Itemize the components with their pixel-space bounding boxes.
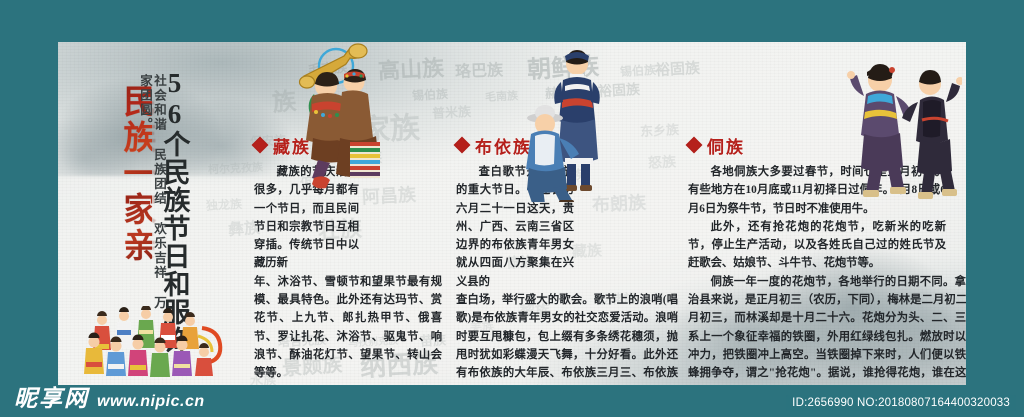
column-heading-buyizu: 布依族 — [456, 134, 678, 156]
brand-name-cn: 昵享网 — [14, 379, 89, 413]
paragraph-zangzu-narrow: 藏族的节庆活动很多，几乎每月都有一个节日，而且民间节日和宗教节日互相穿插。传统节… — [254, 163, 359, 273]
title-block: 民族一家亲 56个民族节日和服饰 社会和谐 民族团结 欢乐吉祥 万家团圆。 — [76, 48, 236, 386]
article-column-zangzu: 藏族 藏族的节庆活动很多，几乎每月都有一个节日，而且民间节日和宗教节日互相穿插。… — [254, 134, 444, 383]
diamond-bullet-icon — [454, 137, 471, 154]
watermark-ethnic-name: 裕固族 — [598, 79, 641, 101]
column-heading-zangzu: 藏族 — [254, 134, 444, 156]
page-subtitle: 社会和谐 民族团结 欢乐吉祥 万家团圆。 — [138, 74, 166, 314]
watermark-ethnic-name: 锡伯族 — [620, 61, 657, 80]
watermark-ethnic-name: 赫哲族 — [545, 81, 585, 102]
brand-url[interactable]: www.nipic.cn — [97, 393, 205, 411]
poster-artboard: 毛南族高山族珞巴族朝鲜族锡伯族毛南族赫哲族裕固族族门巴族土家族撒拉族阿昌族佤族壮… — [58, 42, 966, 386]
paragraph-dongzu-1: 各地侗族大多要过春节，时间也是正月初一。有些地方在10月底或11月初择日过侗年。… — [688, 163, 946, 218]
column-heading-dongzu: 侗族 — [688, 134, 958, 156]
column-title-text: 布依族 — [475, 133, 532, 158]
footer-watermark-bar: 昵享网 www.nipic.cn ID:2656990 NO:201808071… — [0, 385, 1024, 417]
paragraph-dongzu-3: 侗族一年一度的花炮节，各地举行的日期不同。拿三江侗族自治县来说，是正月初三（农历… — [688, 273, 966, 386]
site-brand[interactable]: 昵享网 www.nipic.cn — [14, 379, 205, 413]
article-column-buyizu: 布依族 查白歌节是布依族的重大节日。每逢农历六月二十一日这天，贵州、广西、云南三… — [456, 134, 678, 386]
paragraph-buyizu-wide: 查白场，举行盛大的歌会。歌节上的浪哨(唱歌)是布依族青年男女的社交恋爱活动。浪哨… — [456, 291, 678, 386]
watermark-ethnic-name: 朝鲜族 — [526, 46, 600, 85]
watermark-ethnic-name: 高山族 — [377, 50, 445, 85]
paragraph-zangzu-wide: 年、沐浴节、雪顿节和望果节最有规模、最具特色。此外还有达玛节、赏花节、上九节、郎… — [254, 273, 442, 383]
diamond-bullet-icon — [686, 137, 703, 154]
crowd-svg — [84, 306, 234, 380]
watermark-ethnic-name: 毛南族 — [307, 57, 347, 79]
watermark-ethnic-name: 裕固族 — [654, 57, 700, 80]
asset-id-badge: ID:2656990 NO:20180807164400320033 — [786, 395, 1016, 411]
poster-canvas: 毛南族高山族珞巴族朝鲜族锡伯族毛南族赫哲族裕固族族门巴族土家族撒拉族阿昌族佤族壮… — [0, 0, 1024, 417]
paragraph-buyizu-narrow: 查白歌节是布依族的重大节日。每逢农历六月二十一日这天，贵州、广西、云南三省区边界… — [456, 163, 574, 291]
paragraph-dongzu-2: 此外，还有抢花炮的花炮节，吃新米的吃新节，停止生产活动，以及各姓氏自己过的姓氏节… — [688, 218, 946, 273]
column-title-text: 侗族 — [707, 133, 745, 158]
ethnic-figures-crowd-illustration — [84, 306, 234, 380]
watermark-ethnic-name: 锡伯族 — [412, 85, 449, 104]
watermark-ethnic-name: 普米族 — [432, 101, 472, 122]
article-column-dongzu: 侗族 各地侗族大多要过春节，时间也是正月初一。有些地方在10月底或11月初择日过… — [688, 134, 958, 386]
watermark-ethnic-name: 族 — [271, 81, 298, 118]
diamond-bullet-icon — [252, 137, 269, 154]
watermark-ethnic-name: 门巴族 — [321, 95, 361, 117]
watermark-ethnic-name: 毛南族 — [485, 87, 519, 105]
column-title-text: 藏族 — [273, 133, 311, 158]
watermark-ethnic-name: 珞巴族 — [455, 56, 504, 82]
